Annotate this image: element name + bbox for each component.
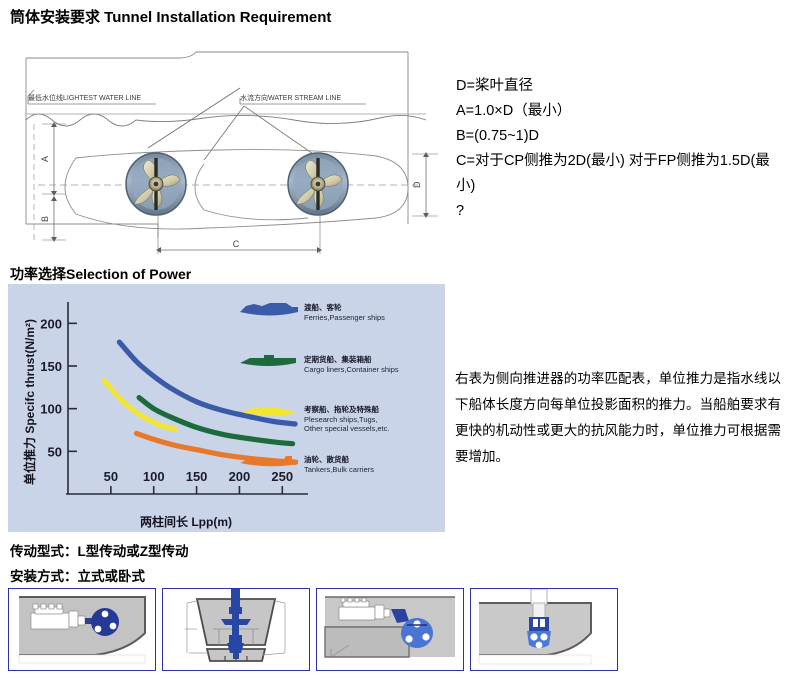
chart-x-tick-200: 200 [229,469,251,484]
photo-horizontal-engine-hull-side[interactable] [316,588,464,671]
legend-label-en-1-0: Cargo liners,Container ships [304,365,399,374]
chart-y-tick-200: 200 [40,316,62,331]
specific-thrust-chart: 50100150200 50100150200250 单位推力 Specifc … [8,284,445,532]
chart-y-tick-100: 100 [40,402,62,417]
formula-list: D=桨叶直径 A=1.0×D（最小） B=(0.75~1)D C=对于CP侧推为… [456,74,786,224]
legend-label-en-0-0: Ferries,Passenger ships [304,313,385,322]
formula-line-d: D=桨叶直径 [456,74,786,99]
chart-y-tick-150: 150 [40,359,62,374]
chart-y-tick-50: 50 [48,444,62,459]
chart-x-tick-150: 150 [186,469,208,484]
chart-description-paragraph: 右表为侧向推进器的功率匹配表，单位推力是指水线以下船体长度方向每单位投影面积的推… [455,366,781,470]
legend-label-en-2-0: Plesearch ships,Tugs, [304,415,378,424]
water-stream-line-label: 水流方向WATER STREAM LINE [240,93,341,102]
legend-label-cn-3: 油轮、散货船 [304,454,349,464]
chart-y-axis-title: 单位推力 Specifc thrust(N/m²) [22,319,37,485]
document-page: 筒体安装要求 Tunnel Installation Requirement [0,0,790,679]
legend-label-en-2-1: Other special vessels,etc. [304,424,389,433]
chart-x-tick-50: 50 [104,469,118,484]
hull-lower-body [26,150,408,238]
thruster-propeller-left [126,153,186,215]
spec-mount-type: 安装方式：立式或卧式 [10,565,145,585]
spec-drive-type: 传动型式：L型传动或Z型传动 [10,540,189,560]
water-surface-wave [26,114,426,126]
legend-label-en-3-0: Tankers,Bulk carriers [304,465,374,474]
legend-label-cn-2: 考察船、拖轮及特殊船 [304,404,379,414]
dimension-d-label: D [412,181,422,188]
photo-horizontal-engine-thruster[interactable] [8,588,156,671]
chart-x-tick-250: 250 [271,469,293,484]
formula-line-extra: ? [456,199,786,224]
legend-label-cn-1: 定期货船、集装箱船 [304,354,372,364]
installation-photo-strip [8,588,782,673]
page-title-tunnel-installation: 筒体安装要求 Tunnel Installation Requirement [10,6,331,27]
photo-vertical-z-drive-hull[interactable] [470,588,618,671]
chart-x-axis-title: 两柱间长 Lpp(m) [140,514,232,529]
chart-x-tick-100: 100 [143,469,165,484]
tunnel-installation-diagram: 最低水位线LIGHTEST WATER LINE 水流方向WATER STREA… [8,28,448,256]
page-title-selection-of-power: 功率选择Selection of Power [10,264,191,284]
formula-line-c: C=对于CP侧推为2D(最小) 对于FP侧推为1.5D(最小) [456,149,786,199]
legend-label-cn-0: 渡船、客轮 [304,302,342,312]
lightest-water-line-label: 最低水位线LIGHTEST WATER LINE [28,93,141,102]
hull-outline [26,52,408,224]
dimension-a-label: A [40,156,50,162]
formula-line-a: A=1.0×D（最小） [456,99,786,124]
thruster-propeller-right [288,153,348,215]
dimension-c-label: C [233,239,240,249]
dimension-b-label: B [40,216,50,222]
formula-line-b: B=(0.75~1)D [456,124,786,149]
photo-vertical-l-drive-section[interactable] [162,588,310,671]
